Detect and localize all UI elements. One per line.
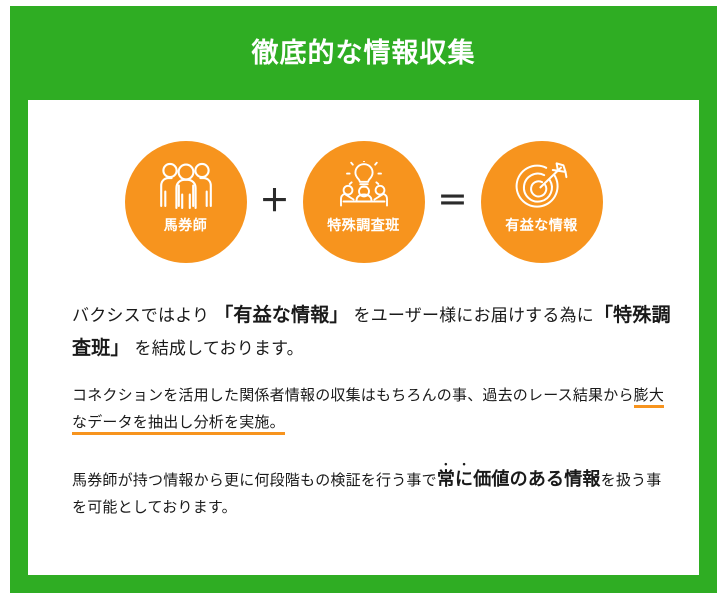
paragraph3-strong: 価値のある情報 [473, 469, 600, 489]
circle-label-tokushu-chosahan: 特殊調査班 [327, 215, 400, 235]
circle-bakenshi: 馬券師 [125, 141, 247, 263]
circle-label-yueki-na-joho: 有益な情報 [505, 215, 578, 235]
lead-text-1: バクシスではより [72, 306, 214, 325]
paragraph-verification: 馬券師が持つ情報から更に何段階もの検証を行う事で常に価値のある情報を扱う事を可能… [72, 459, 672, 522]
paragraph3-text-1: 馬券師が持つ情報から更に何段階もの検証を行う事で [72, 472, 437, 489]
operator-equals: ＝ [425, 187, 481, 217]
lightbulb-meeting-icon [329, 161, 399, 211]
equation-row: 馬券師 ＋ [28, 138, 699, 266]
lead-text-3: を結成しております。 [130, 339, 304, 358]
operator-plus: ＋ [247, 187, 303, 217]
prose-block: バクシスではより 「有益な情報」 をユーザー様にお届けする為に「特殊調査班」 を… [72, 300, 672, 521]
three-people-icon [155, 161, 217, 211]
lead-paragraph: バクシスではより 「有益な情報」 をユーザー様にお届けする為に「特殊調査班」 を… [72, 300, 672, 365]
target-arrow-icon [511, 161, 573, 211]
circle-tokushu-chosahan: 特殊調査班 [303, 141, 425, 263]
content-card: 馬券師 ＋ [28, 100, 699, 575]
paragraph2-text-1: コネクションを活用した関係者情報の収集はもちろんの事、過去のレース結果から [72, 387, 634, 404]
paragraph-connection: コネクションを活用した関係者情報の収集はもちろんの事、過去のレース結果から膨大な… [72, 383, 672, 436]
lead-strong-yueki: 「有益な情報」 [214, 305, 348, 326]
circle-yueki-na-joho: 有益な情報 [481, 141, 603, 263]
paragraph3-emphasis-dots: 常に [437, 469, 473, 489]
lead-text-2: をユーザー様にお届けする為に [349, 306, 594, 325]
green-panel: 徹底的な情報収集 [10, 6, 717, 593]
circle-label-bakenshi: 馬券師 [164, 215, 208, 235]
page-title: 徹底的な情報収集 [10, 6, 717, 100]
